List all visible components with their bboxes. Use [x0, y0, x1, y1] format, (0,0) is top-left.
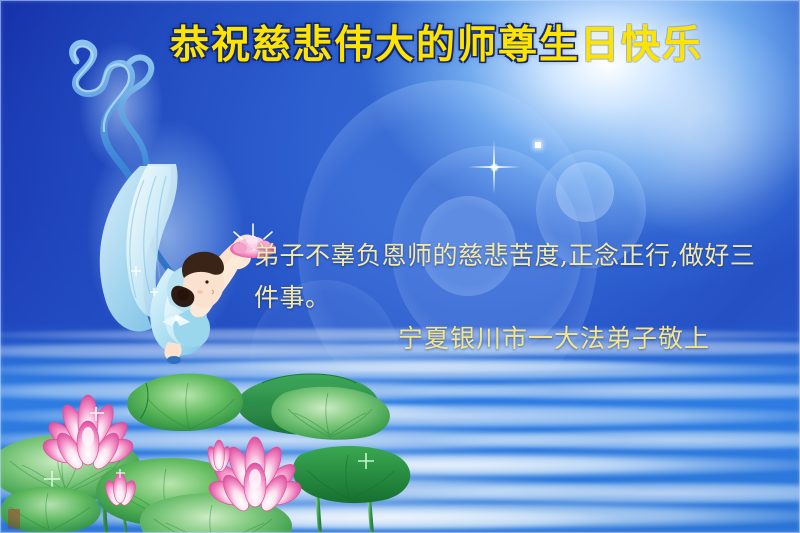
greeting-message: 弟子不辜负恩师的慈悲苦度,正念正行,做好三 件事。 [254, 235, 774, 319]
signature-line: 宁夏银川市一大法弟子敬上 [398, 322, 710, 356]
greeting-message-line-1: 弟子不辜负恩师的慈悲苦度,正念正行,做好三 [254, 235, 774, 277]
small-square-sparkle-icon [535, 142, 541, 148]
greeting-message-line-2: 件事。 [254, 277, 774, 319]
headline-outlined: 恭祝慈悲伟大的师尊生 [170, 23, 580, 68]
page-title: 恭祝慈悲伟大的师尊生日快乐 [170, 22, 790, 72]
greeting-card: 恭祝慈悲伟大的师尊生日快乐 弟子不辜负恩师的慈悲苦度,正念正行,做好三 件事。 … [0, 0, 800, 533]
headline-bright: 日快乐 [580, 23, 703, 68]
